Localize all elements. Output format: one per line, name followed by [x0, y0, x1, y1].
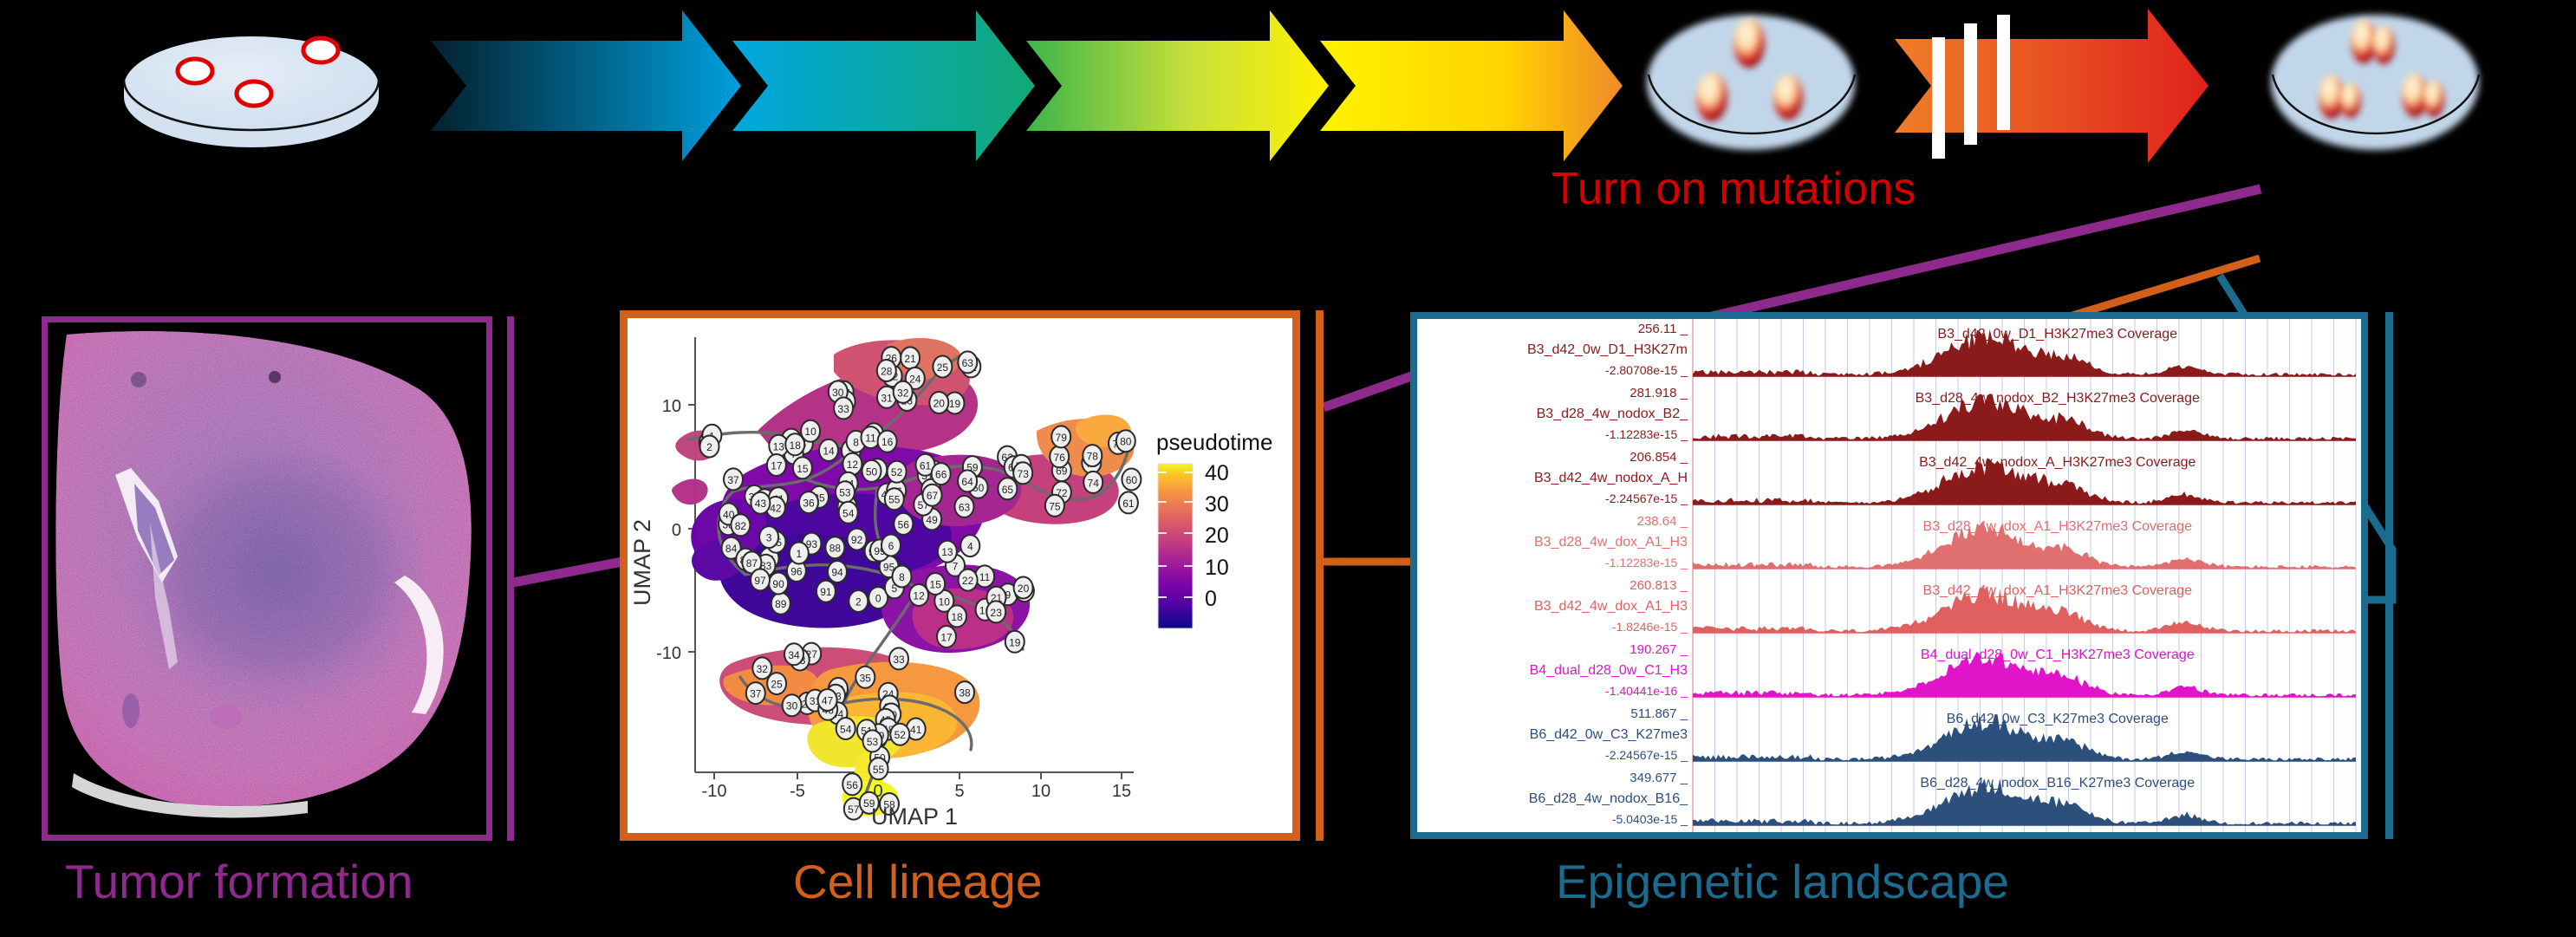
svg-text:8: 8: [853, 436, 859, 448]
svg-text:11: 11: [865, 433, 876, 445]
track-label-left-0: B3_d42_0w_D1_H3K27m: [1527, 342, 1688, 357]
svg-text:64: 64: [961, 476, 973, 488]
svg-text:4: 4: [967, 541, 973, 553]
svg-text:79: 79: [1056, 432, 1068, 444]
svg-text:10: 10: [939, 595, 951, 608]
svg-text:82: 82: [735, 520, 747, 532]
track-min-5: -1.40441e-16 _: [1605, 684, 1688, 698]
track-max-1: 281.918 _: [1630, 386, 1688, 400]
svg-text:18: 18: [951, 611, 963, 623]
track-max-3: 238.64 _: [1637, 514, 1688, 529]
arrow-3: [1026, 10, 1329, 161]
track-label-left-7: B6_d28_4w_nodox_B16_: [1529, 791, 1688, 806]
svg-text:21: 21: [904, 353, 916, 365]
track-label-right-2: B3_d42_4w_nodox_A_H3K27me3 Coverage: [1919, 455, 2195, 470]
svg-text:65: 65: [1002, 484, 1014, 496]
track-max-4: 260.813 _: [1630, 578, 1688, 593]
svg-text:66: 66: [935, 469, 947, 481]
legend-tick-20: 20: [1205, 524, 1229, 548]
y-axis-label: UMAP 2: [629, 519, 655, 606]
track-label-right-7: B6_d28_4w_nodox_B16_K27me3 Coverage: [1920, 776, 2195, 791]
svg-text:57: 57: [848, 804, 860, 816]
arrow-4: [1320, 10, 1623, 161]
svg-text:56: 56: [847, 779, 859, 791]
svg-text:92: 92: [851, 534, 863, 546]
track-label-right-6: B6_d42_0w_C3_K27me3 Coverage: [1947, 712, 2169, 726]
svg-text:89: 89: [775, 598, 787, 610]
svg-text:34: 34: [788, 649, 800, 661]
svg-text:3: 3: [766, 532, 772, 544]
svg-text:32: 32: [897, 387, 909, 399]
svg-text:2: 2: [855, 596, 862, 608]
track-label-left-1: B3_d28_4w_nodox_B2_: [1537, 407, 1688, 421]
track-min-7: -5.0403e-15 _: [1612, 812, 1688, 826]
umap-plot: 0123456789101112131415161718192021222324…: [628, 318, 1292, 833]
track-label-right-0: B3_d42_0w_D1_H3K27me3 Coverage: [1937, 327, 2177, 342]
svg-text:60: 60: [1126, 474, 1138, 486]
x-tick-3: 5: [954, 782, 964, 801]
x-tick-4: 10: [1031, 782, 1051, 801]
svg-text:91: 91: [820, 586, 832, 598]
y-tick-1: 0: [672, 521, 681, 540]
svg-text:47: 47: [822, 695, 834, 707]
legend-tick-30: 30: [1205, 492, 1229, 517]
svg-text:55: 55: [873, 764, 885, 776]
x-tick-1: -5: [790, 782, 805, 801]
svg-text:76: 76: [1054, 452, 1066, 464]
svg-text:56: 56: [898, 518, 910, 530]
x-tick-5: 15: [1112, 782, 1131, 801]
svg-text:61: 61: [1122, 498, 1135, 510]
svg-text:19: 19: [1009, 636, 1021, 648]
histology-image: [48, 322, 486, 835]
svg-text:37: 37: [750, 688, 762, 700]
svg-text:2: 2: [706, 441, 712, 453]
svg-text:31: 31: [881, 392, 893, 404]
track-min-4: -1.8246e-15 _: [1612, 620, 1688, 634]
track-max-2: 206.854 _: [1630, 450, 1688, 465]
track-label-left-5: B4_dual_d28_0w_C1_H3: [1530, 663, 1688, 678]
svg-text:30: 30: [786, 700, 798, 713]
svg-text:63: 63: [959, 501, 971, 513]
svg-text:53: 53: [839, 487, 851, 499]
svg-text:55: 55: [888, 494, 901, 506]
workflow-row: [0, 0, 2576, 165]
svg-text:53: 53: [867, 736, 879, 748]
svg-text:36: 36: [803, 498, 815, 510]
svg-text:12: 12: [847, 459, 859, 471]
svg-text:20: 20: [1018, 582, 1030, 595]
epigenetic-landscape-panel[interactable]: 256.11 _B3_d42_0w_D1_H3K27m-2.80708e-15 …: [1410, 312, 2368, 839]
caption-epigenetic-landscape: Epigenetic landscape: [1556, 854, 2009, 909]
svg-text:13: 13: [941, 546, 953, 558]
lineage-panel-accent-bar: [1316, 310, 1324, 841]
svg-text:23: 23: [991, 607, 1003, 619]
track-label-right-1: B3_d28_4w_nodox_B2_H3K27me3 Coverage: [1916, 391, 2200, 406]
svg-text:6: 6: [888, 540, 894, 552]
svg-text:22: 22: [962, 575, 974, 587]
track-min-0: -2.80708e-15 _: [1605, 363, 1688, 377]
svg-text:11: 11: [979, 571, 991, 583]
svg-text:32: 32: [757, 663, 769, 675]
x-tick-2: 0: [873, 782, 882, 801]
svg-text:73: 73: [1018, 468, 1030, 480]
track-min-6: -2.24567e-15 _: [1605, 748, 1688, 762]
svg-text:0: 0: [875, 593, 881, 605]
svg-text:35: 35: [860, 672, 872, 684]
cell-lineage-panel[interactable]: 0123456789101112131415161718192021222324…: [620, 310, 1300, 841]
arrow-2: [732, 10, 1035, 161]
track-label-left-2: B3_d42_4w_nodox_A_H: [1534, 471, 1688, 485]
genome-browser: 256.11 _B3_d42_0w_D1_H3K27m-2.80708e-15 …: [1417, 319, 2361, 832]
track-max-6: 511.867 _: [1630, 706, 1688, 721]
arrow-1: [431, 10, 741, 161]
x-tick-0: -10: [702, 782, 727, 801]
track-label-left-6: B6_d42_0w_C3_K27me3: [1530, 727, 1688, 742]
svg-text:52: 52: [891, 466, 903, 478]
svg-text:25: 25: [771, 679, 783, 691]
track-max-5: 190.267 _: [1630, 642, 1688, 657]
track-label-right-4: B3_d42_4w_dox_A1_H3K27me3 Coverage: [1923, 583, 2193, 598]
tumor-formation-panel[interactable]: [42, 316, 492, 841]
svg-text:88: 88: [829, 543, 842, 555]
svg-text:10: 10: [804, 426, 816, 438]
svg-text:50: 50: [866, 465, 878, 478]
track-max-7: 349.677 _: [1630, 771, 1688, 785]
svg-text:17: 17: [940, 632, 953, 644]
svg-text:13: 13: [773, 440, 785, 452]
svg-text:1: 1: [796, 548, 802, 560]
track-min-3: -1.12283e-15 _: [1605, 556, 1688, 569]
track-label-right-3: B3_d28_4w_dox_A1_H3K27me3 Coverage: [1923, 519, 2193, 534]
svg-text:28: 28: [881, 366, 893, 378]
tumor-colony-dish-post: [2271, 15, 2479, 150]
svg-text:12: 12: [913, 590, 925, 602]
svg-text:14: 14: [823, 445, 835, 457]
svg-text:61: 61: [920, 459, 932, 472]
svg-text:37: 37: [727, 474, 739, 486]
legend-title: pseudotime: [1156, 429, 1272, 455]
tumor-colony-dish-pre: [1647, 15, 1855, 150]
connector-histology-to-umap: [513, 562, 622, 582]
x-axis-label: UMAP 1: [871, 804, 958, 830]
svg-text:42: 42: [770, 503, 782, 515]
track-label-right-5: B4_dual_d28_0w_C1_H3K27me3 Coverage: [1921, 647, 2195, 662]
svg-text:8: 8: [899, 571, 905, 583]
svg-text:96: 96: [790, 565, 803, 577]
barcode-bars: [1932, 15, 2010, 159]
svg-text:33: 33: [893, 654, 905, 666]
track-label-left-4: B3_d42_4w_dox_A1_H3: [1534, 599, 1688, 614]
svg-text:7: 7: [953, 560, 959, 572]
tumor-panel-accent-bar: [507, 316, 514, 841]
legend-tick-0: 0: [1205, 587, 1217, 611]
caption-cell-lineage: Cell lineage: [793, 854, 1042, 909]
svg-text:54: 54: [842, 507, 855, 519]
workflow-svg: [0, 0, 2576, 173]
y-tick-0: 10: [662, 397, 681, 416]
track-max-0: 256.11 _: [1638, 322, 1688, 336]
svg-text:17: 17: [771, 460, 783, 472]
svg-text:49: 49: [926, 514, 938, 526]
svg-text:67: 67: [927, 490, 939, 502]
svg-text:19: 19: [949, 398, 961, 410]
svg-text:97: 97: [754, 575, 766, 587]
legend-tick-40: 40: [1205, 461, 1229, 485]
svg-text:78: 78: [1087, 451, 1099, 463]
svg-text:80: 80: [1120, 436, 1132, 448]
svg-text:94: 94: [831, 567, 843, 579]
svg-text:38: 38: [959, 687, 971, 699]
starting-culture-dish: [124, 36, 379, 147]
svg-text:20: 20: [933, 398, 946, 410]
svg-text:15: 15: [930, 579, 942, 591]
svg-text:74: 74: [1088, 477, 1100, 489]
svg-text:16: 16: [881, 436, 894, 448]
connector-genome-to-dish-orange: [2061, 258, 2260, 319]
svg-text:43: 43: [755, 498, 767, 510]
svg-text:52: 52: [894, 729, 907, 741]
svg-text:90: 90: [772, 578, 784, 590]
turn-on-mutations-label: Turn on mutations: [1551, 163, 1916, 215]
connector-umap-to-dish: [1324, 374, 1416, 407]
epigenetic-panel-accent-bar: [2385, 312, 2393, 839]
track-label-left-3: B3_d28_4w_dox_A1_H3: [1534, 535, 1688, 550]
svg-text:75: 75: [1049, 500, 1061, 512]
track-min-1: -1.12283e-15 _: [1605, 427, 1688, 441]
legend-tick-10: 10: [1205, 556, 1229, 580]
svg-text:63: 63: [962, 357, 974, 369]
track-min-2: -2.24567e-15 _: [1605, 491, 1688, 505]
caption-tumor-formation: Tumor formation: [65, 854, 413, 909]
svg-text:87: 87: [746, 557, 758, 569]
svg-text:24: 24: [909, 373, 921, 385]
svg-text:15: 15: [797, 463, 809, 475]
svg-text:41: 41: [910, 724, 922, 736]
svg-text:54: 54: [840, 724, 852, 736]
svg-text:18: 18: [790, 439, 802, 452]
y-tick-2: -10: [656, 644, 681, 663]
svg-text:84: 84: [725, 543, 738, 555]
svg-text:33: 33: [837, 403, 849, 415]
svg-text:25: 25: [937, 361, 949, 374]
